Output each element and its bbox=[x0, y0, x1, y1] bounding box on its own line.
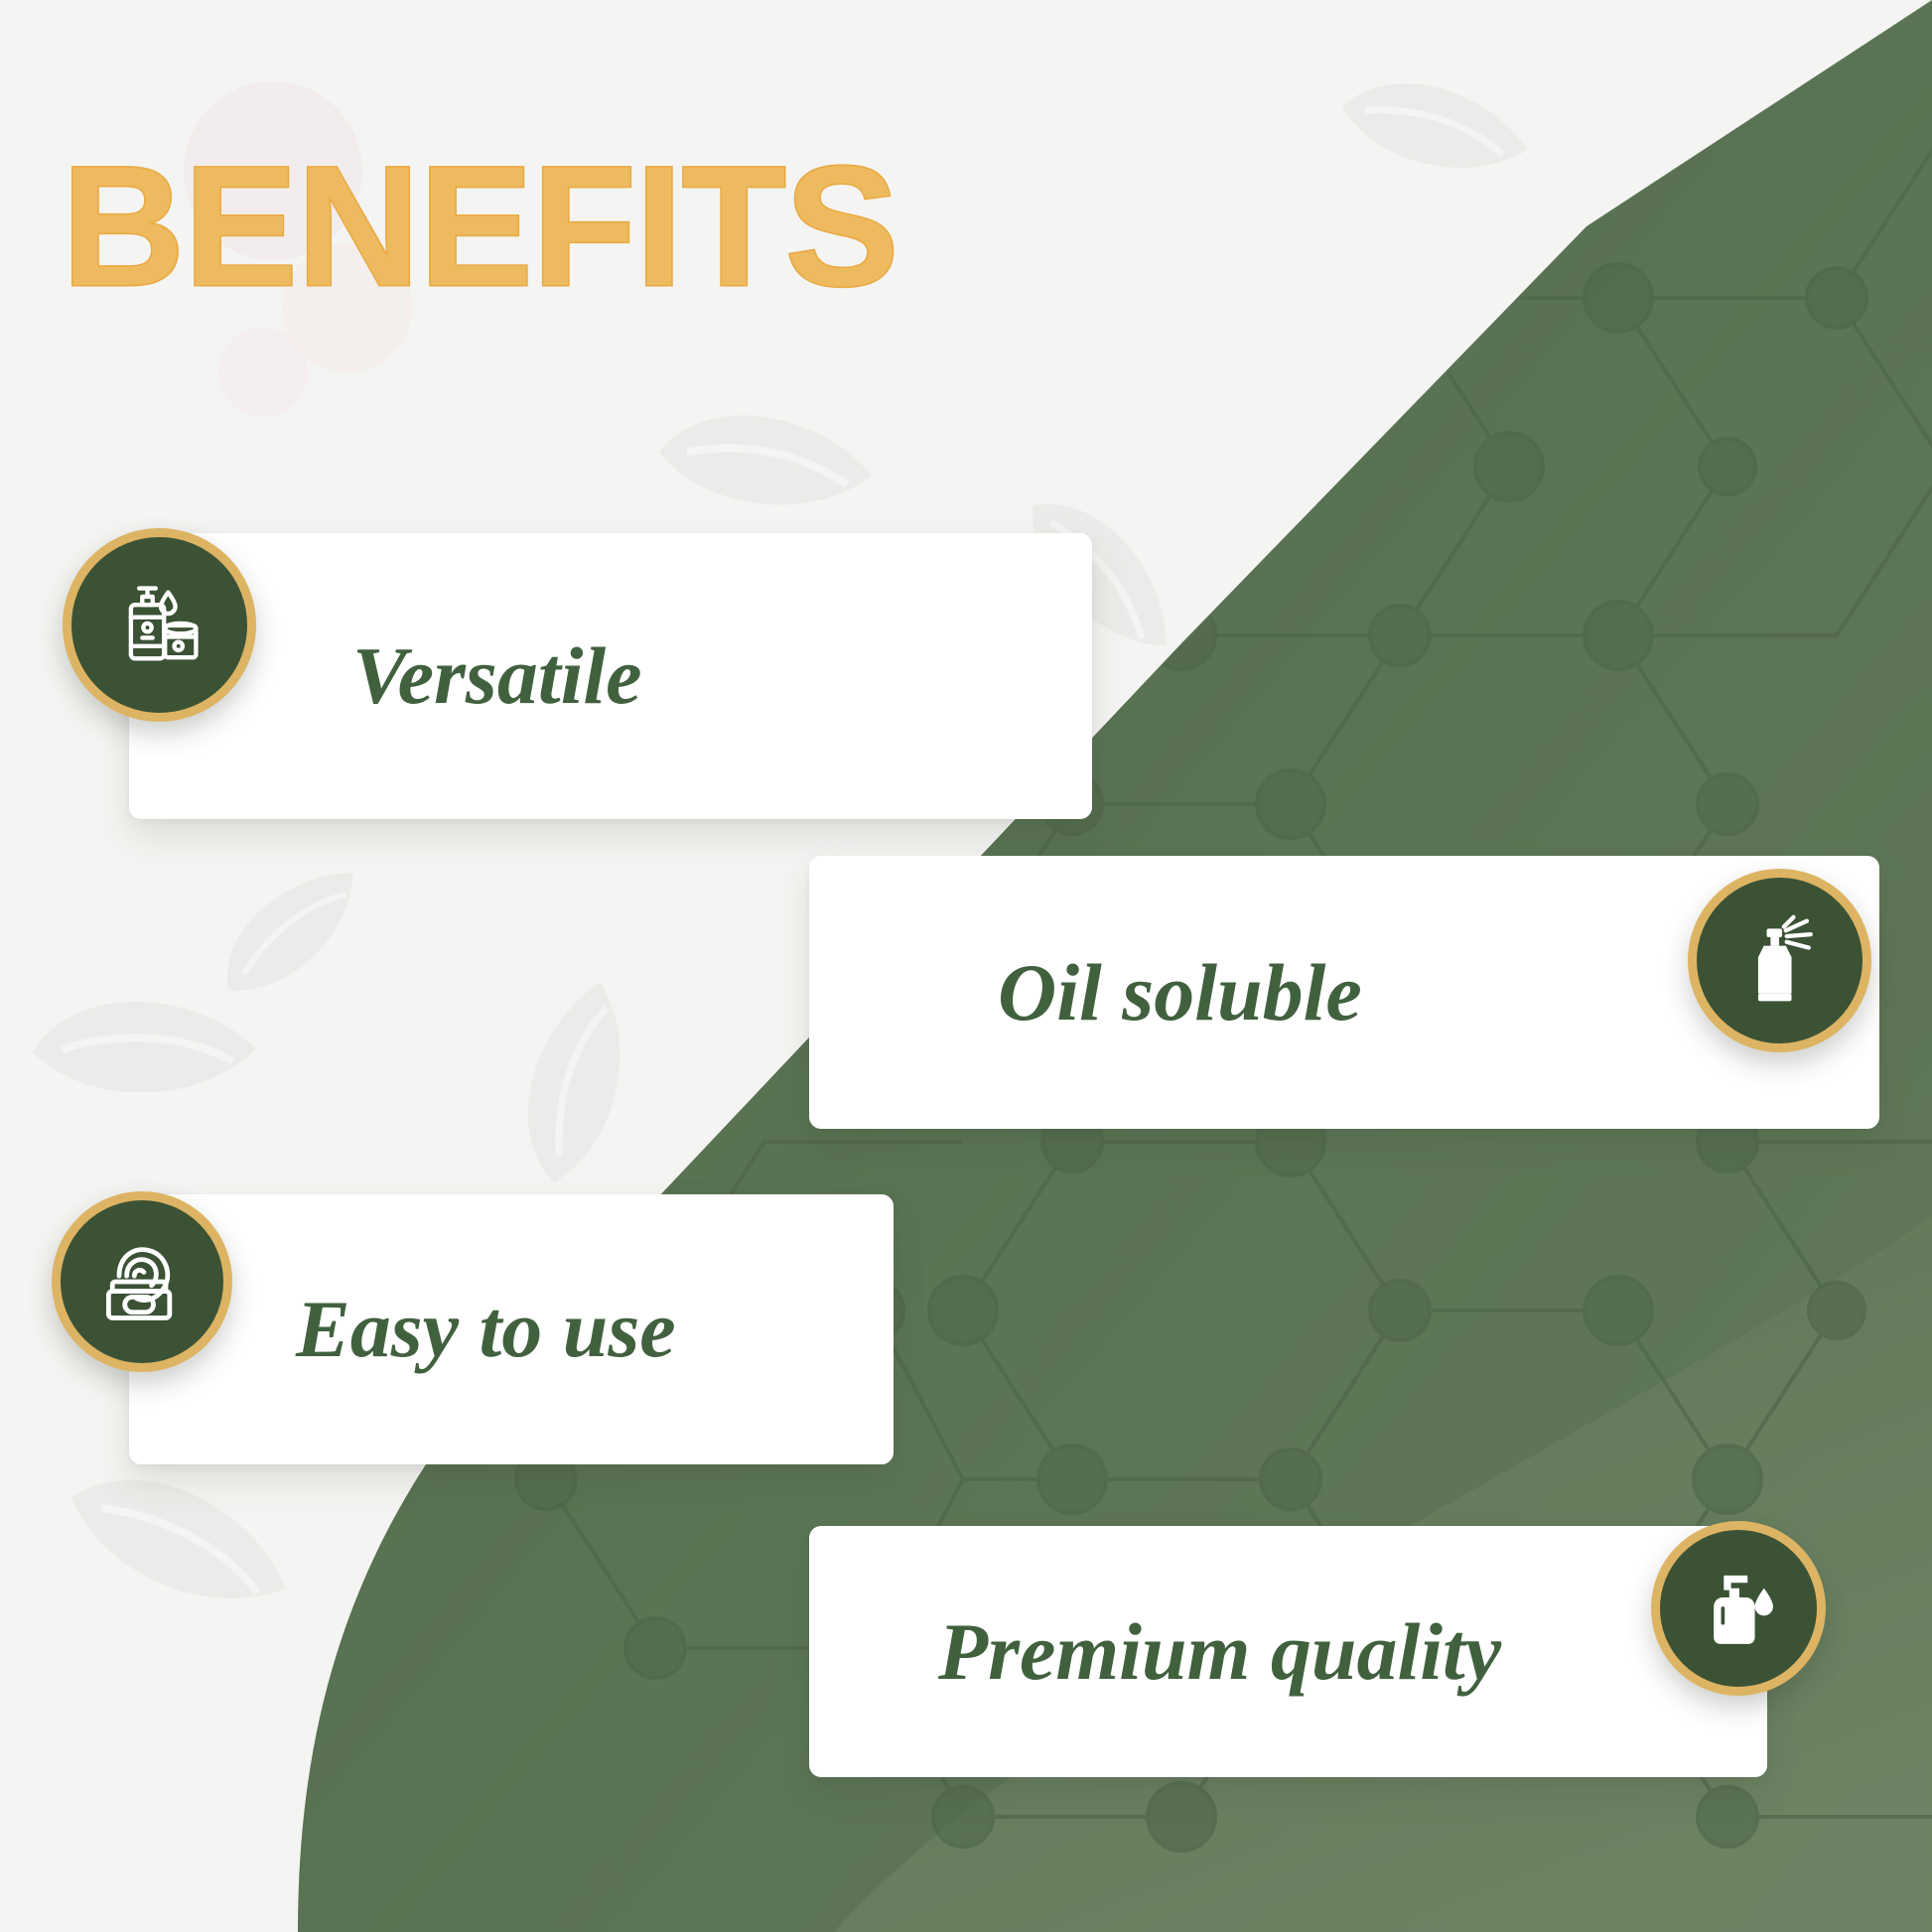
benefit-label: Easy to use bbox=[296, 1289, 676, 1370]
benefit-label: Premium quality bbox=[938, 1611, 1501, 1693]
page-title: BENEFITS bbox=[62, 141, 898, 312]
benefits-slide: BENEFITS Versatile Oil soluble bbox=[0, 0, 1932, 1932]
benefit-card-premium-quality[interactable]: Premium quality bbox=[809, 1526, 1767, 1777]
spray-can-icon bbox=[1688, 869, 1871, 1052]
benefit-card-versatile[interactable]: Versatile bbox=[129, 533, 1092, 819]
benefit-label: Oil soluble bbox=[998, 952, 1362, 1034]
benefit-card-easy-to-use[interactable]: Easy to use bbox=[129, 1194, 894, 1464]
lotion-bottle-and-jar-icon bbox=[63, 528, 256, 722]
pump-dispenser-droplet-icon bbox=[1651, 1521, 1826, 1696]
benefit-label: Versatile bbox=[352, 635, 642, 717]
blush-circle-3 bbox=[218, 328, 308, 417]
cream-jar-icon bbox=[52, 1191, 232, 1372]
